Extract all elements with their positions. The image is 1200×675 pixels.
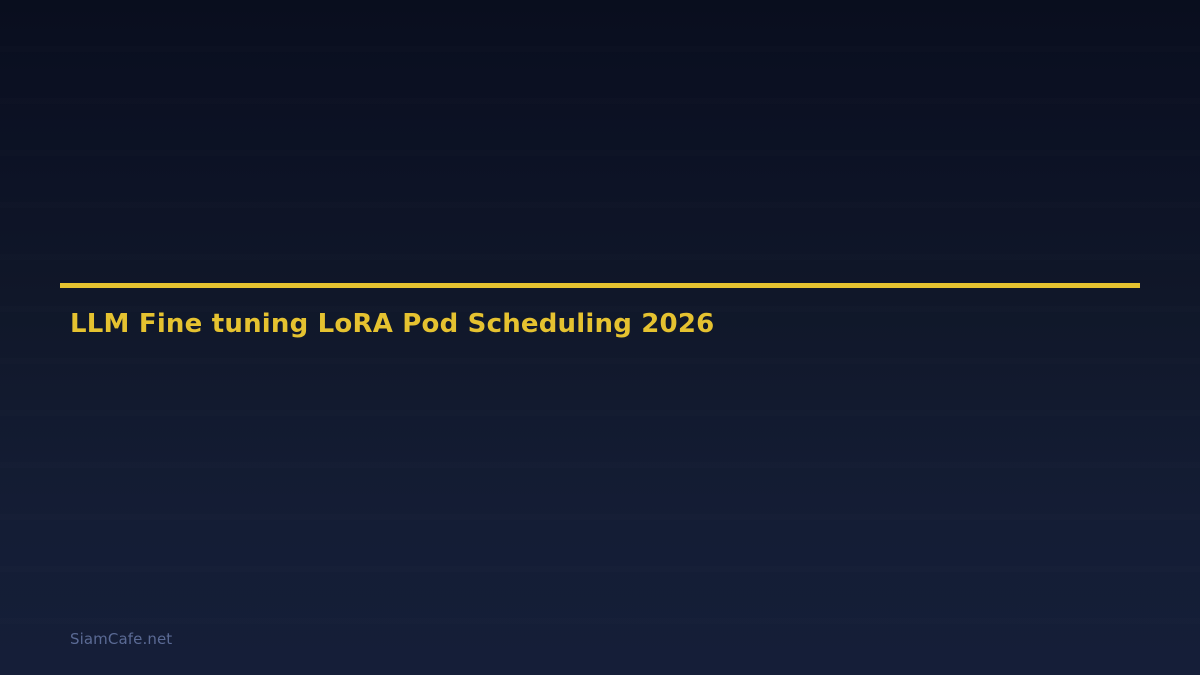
- title-slide: LLM Fine tuning LoRA Pod Scheduling 2026…: [0, 0, 1200, 675]
- accent-rule: [60, 283, 1140, 288]
- footer-brand: SiamCafe.net: [70, 630, 172, 648]
- title-block: LLM Fine tuning LoRA Pod Scheduling 2026: [60, 283, 1140, 340]
- page-title: LLM Fine tuning LoRA Pod Scheduling 2026: [60, 310, 1140, 340]
